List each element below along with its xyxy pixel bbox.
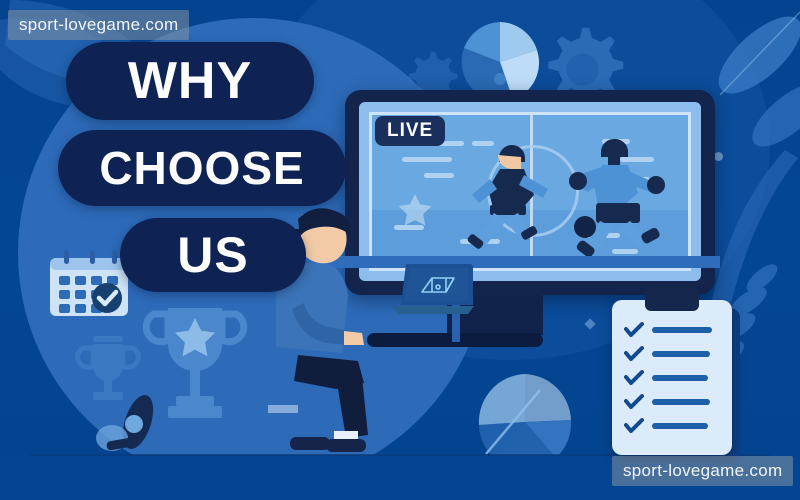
checklist-line [652,399,710,405]
checklist-row[interactable] [624,322,712,337]
clipboard-clip [645,287,699,311]
laptop[interactable] [392,262,474,324]
check-icon [624,418,644,433]
soccer-ball-icon [574,216,596,238]
clipboard-checklist[interactable] [612,300,732,455]
dot-decoration [494,73,506,85]
ticker-bar [402,157,452,162]
watermark-top-left: sport-lovegame.com [8,10,189,40]
headline-pill-us: US [120,218,306,292]
checklist-line [652,423,708,429]
pie-chart-icon [455,20,545,100]
medal-icon [96,390,176,460]
checklist-row[interactable] [624,346,710,361]
poster-canvas: LIVE [0,0,800,500]
ticker-bar [424,173,454,178]
checklist-row[interactable] [624,370,708,385]
player-left-figure [454,139,574,259]
check-icon [624,370,644,385]
sparkle-dot-icon [714,152,723,161]
watermark-bottom-right: sport-lovegame.com [612,456,793,486]
checklist-line [652,327,712,333]
player-right-figure [558,135,688,263]
headline-pill-choose: CHOOSE [58,130,346,206]
check-icon [624,322,644,337]
check-icon [624,346,644,361]
check-icon [624,394,644,409]
live-badge: LIVE [375,116,445,146]
checklist-row[interactable] [624,418,708,433]
tv-screen: LIVE [359,102,701,281]
ticker-bar [394,225,424,230]
checklist-line [652,375,708,381]
checklist-row[interactable] [624,394,710,409]
pitch-star-icon [398,193,432,227]
calendar-icon [48,248,130,320]
headline-pill-why: WHY [66,42,314,120]
checklist-line [652,351,710,357]
